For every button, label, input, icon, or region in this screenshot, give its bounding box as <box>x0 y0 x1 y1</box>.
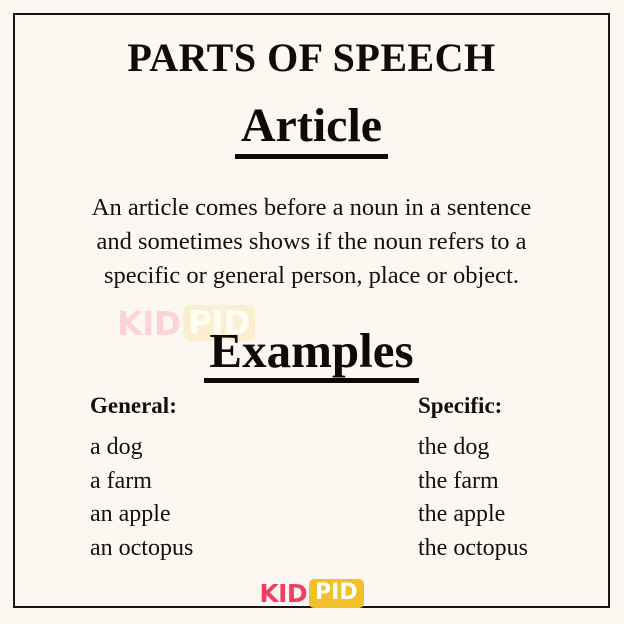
footer-logo: KID PID <box>13 579 610 608</box>
general-examples-list: a dog a farm an apple an octopus <box>90 431 193 565</box>
list-item: the octopus <box>418 532 528 566</box>
kidpid-logo: KID PID <box>259 579 363 608</box>
examples-heading-container: Examples <box>13 325 610 383</box>
description-line-1: An article comes before a noun in a sent… <box>61 191 562 225</box>
general-column-title: General: <box>90 394 193 417</box>
specific-column-title: Specific: <box>418 394 528 417</box>
description-line-3: specific or general person, place or obj… <box>61 259 562 293</box>
list-item: the farm <box>418 465 528 499</box>
general-column: General: a dog a farm an apple an octopu… <box>90 394 193 565</box>
specific-column: Specific: the dog the farm the apple the… <box>418 394 528 565</box>
poster-content: PARTS OF SPEECH Article An article comes… <box>13 13 610 608</box>
subtitle-article: Article <box>235 101 388 159</box>
page-title: PARTS OF SPEECH <box>13 38 610 78</box>
logo-kid-text: KID <box>259 581 307 606</box>
logo-pid-badge: PID <box>309 579 364 608</box>
examples-columns: General: a dog a farm an apple an octopu… <box>13 394 610 574</box>
examples-heading: Examples <box>204 325 418 383</box>
list-item: the dog <box>418 431 528 465</box>
description-paragraph: An article comes before a noun in a sent… <box>61 191 562 293</box>
description-line-2: and sometimes shows if the noun refers t… <box>61 225 562 259</box>
list-item: an octopus <box>90 532 193 566</box>
specific-examples-list: the dog the farm the apple the octopus <box>418 431 528 565</box>
list-item: an apple <box>90 498 193 532</box>
poster-canvas: PARTS OF SPEECH Article An article comes… <box>0 0 624 624</box>
list-item: a dog <box>90 431 193 465</box>
list-item: the apple <box>418 498 528 532</box>
list-item: a farm <box>90 465 193 499</box>
subtitle-container: Article <box>13 101 610 159</box>
